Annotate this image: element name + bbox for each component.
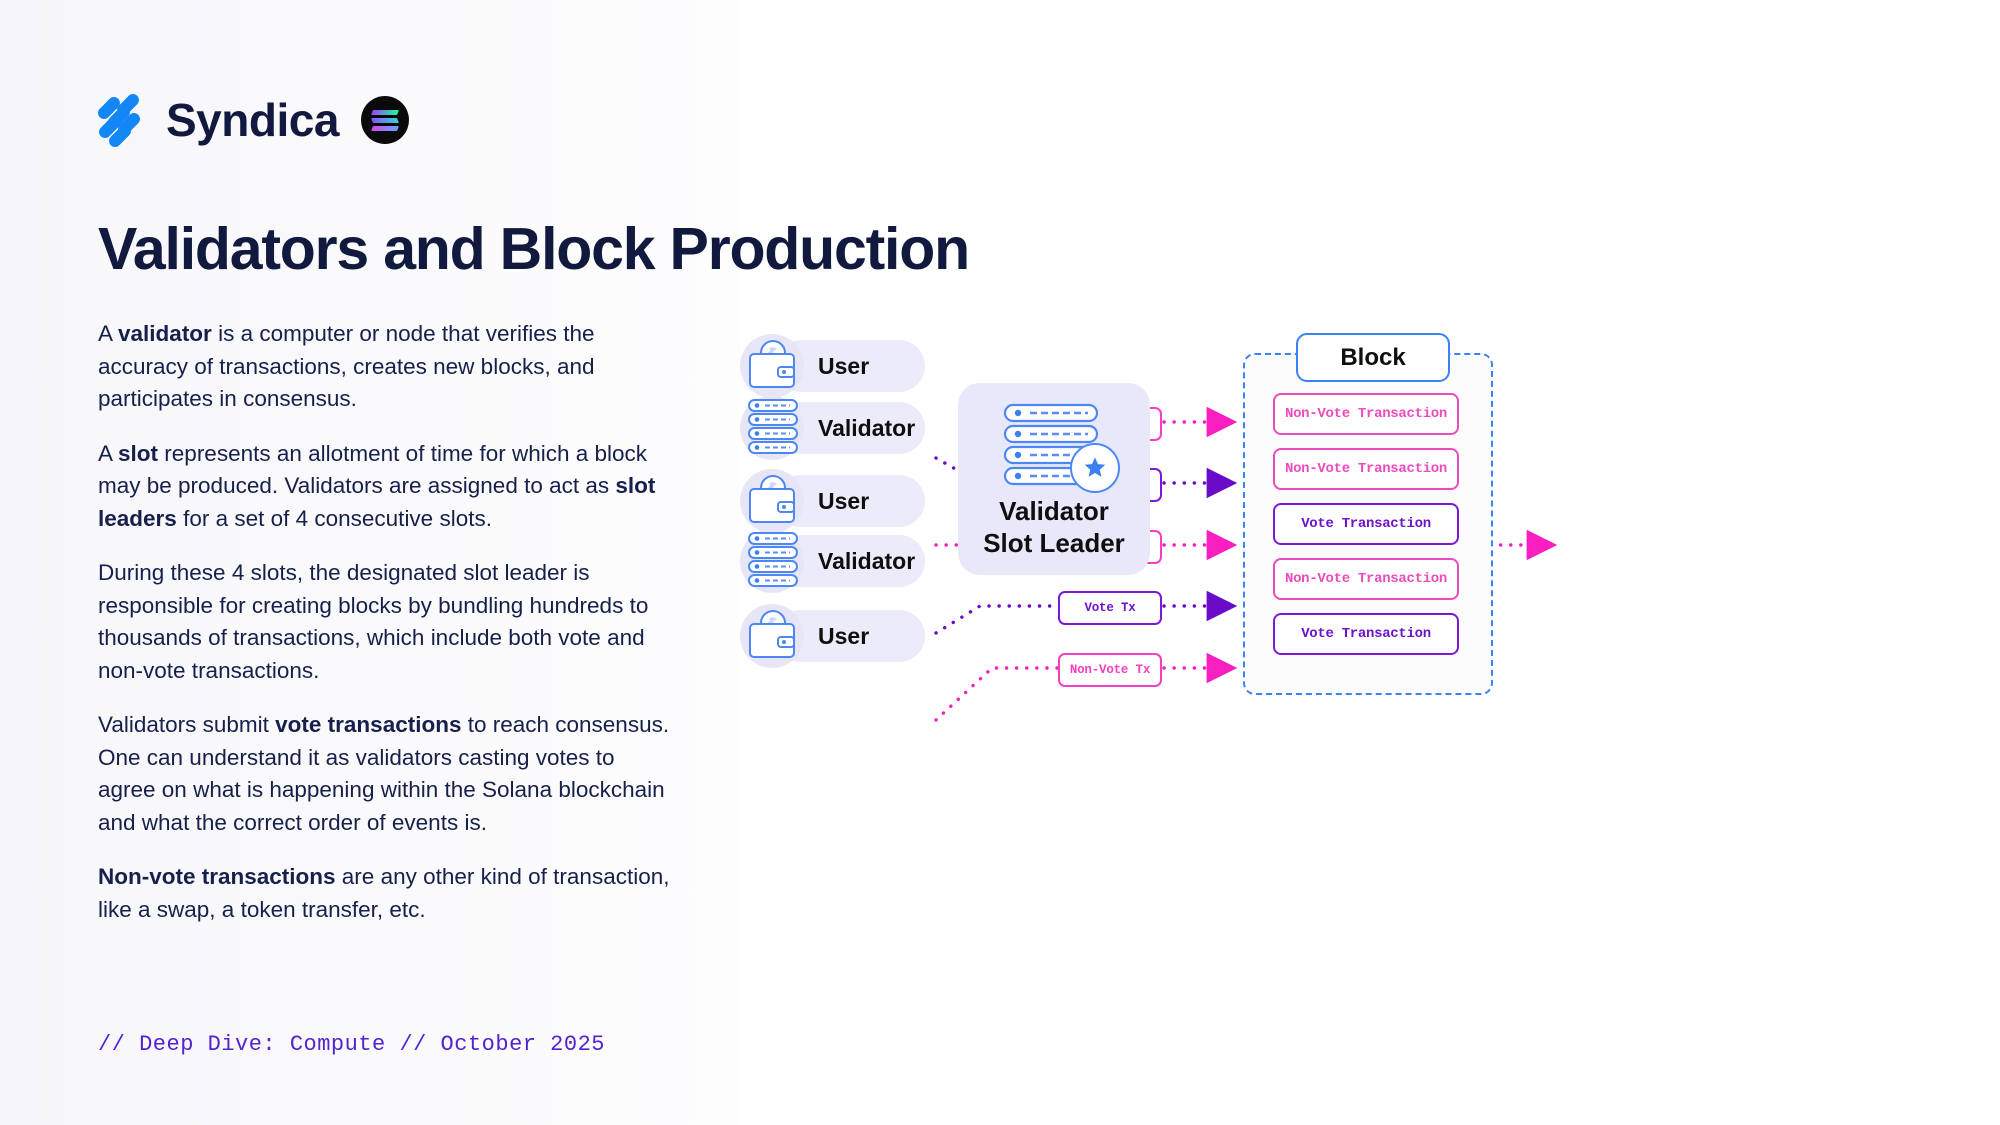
leader-title: Validator Slot Leader (958, 495, 1150, 559)
slide-root: Syndica Validators and Block Production … (0, 0, 2000, 1125)
footer-note: // Deep Dive: Compute // October 2025 (98, 1032, 605, 1057)
wallet-icon (744, 473, 802, 529)
solana-logo-icon (361, 96, 409, 144)
server-stack-icon (744, 531, 802, 591)
list-item[interactable]: User (740, 340, 925, 392)
paragraph-p5: Non-vote transactions are any other kind… (98, 861, 678, 926)
list-item-label: Validator (818, 535, 915, 587)
list-item[interactable]: User (740, 475, 925, 527)
block-transaction-list: Non-Vote TransactionNon-Vote Transaction… (1273, 393, 1459, 655)
block-tx-non-vote[interactable]: Non-Vote Transaction (1273, 558, 1459, 600)
list-item-label: Validator (818, 402, 915, 454)
list-item[interactable]: User (740, 610, 925, 662)
paragraph-p4: Validators submit vote transactions to r… (98, 709, 678, 839)
wallet-icon (744, 338, 802, 394)
list-item-label: User (818, 475, 869, 527)
diagram: User Validato (740, 400, 2000, 830)
brand-lockup: Syndica (98, 96, 409, 144)
validator-slot-leader-card[interactable]: Validator Slot Leader (958, 383, 1150, 575)
block-tx-non-vote[interactable]: Non-Vote Transaction (1273, 448, 1459, 490)
list-item[interactable]: Validator (740, 535, 925, 587)
server-stack-icon (744, 398, 802, 458)
block-tx-vote[interactable]: Vote Transaction (1273, 613, 1459, 655)
paragraph-p2: A slot represents an allotment of time f… (98, 438, 678, 536)
brand-name: Syndica (166, 97, 339, 143)
leader-title-line1: Validator (958, 495, 1150, 527)
list-item-label: User (818, 610, 869, 662)
wallet-icon (744, 608, 802, 664)
page-title: Validators and Block Production (98, 215, 969, 283)
block-tx-vote[interactable]: Vote Transaction (1273, 503, 1459, 545)
block-tx-non-vote[interactable]: Non-Vote Transaction (1273, 393, 1459, 435)
star-icon (1070, 443, 1120, 493)
syndica-logo-icon (98, 97, 144, 143)
paragraph-p3: During these 4 slots, the designated slo… (98, 557, 678, 687)
paragraph-p1: A validator is a computer or node that v… (98, 318, 678, 416)
list-item-label: User (818, 340, 869, 392)
tx-chip-non-vote[interactable]: Non-Vote Tx (1058, 653, 1162, 687)
tx-chip-vote[interactable]: Vote Tx (1058, 591, 1162, 625)
list-item[interactable]: Validator (740, 402, 925, 454)
block-panel: Block Non-Vote TransactionNon-Vote Trans… (1243, 337, 1493, 695)
leader-title-line2: Slot Leader (958, 527, 1150, 559)
block-title: Block (1296, 333, 1450, 382)
body-copy: A validator is a computer or node that v… (98, 318, 678, 948)
